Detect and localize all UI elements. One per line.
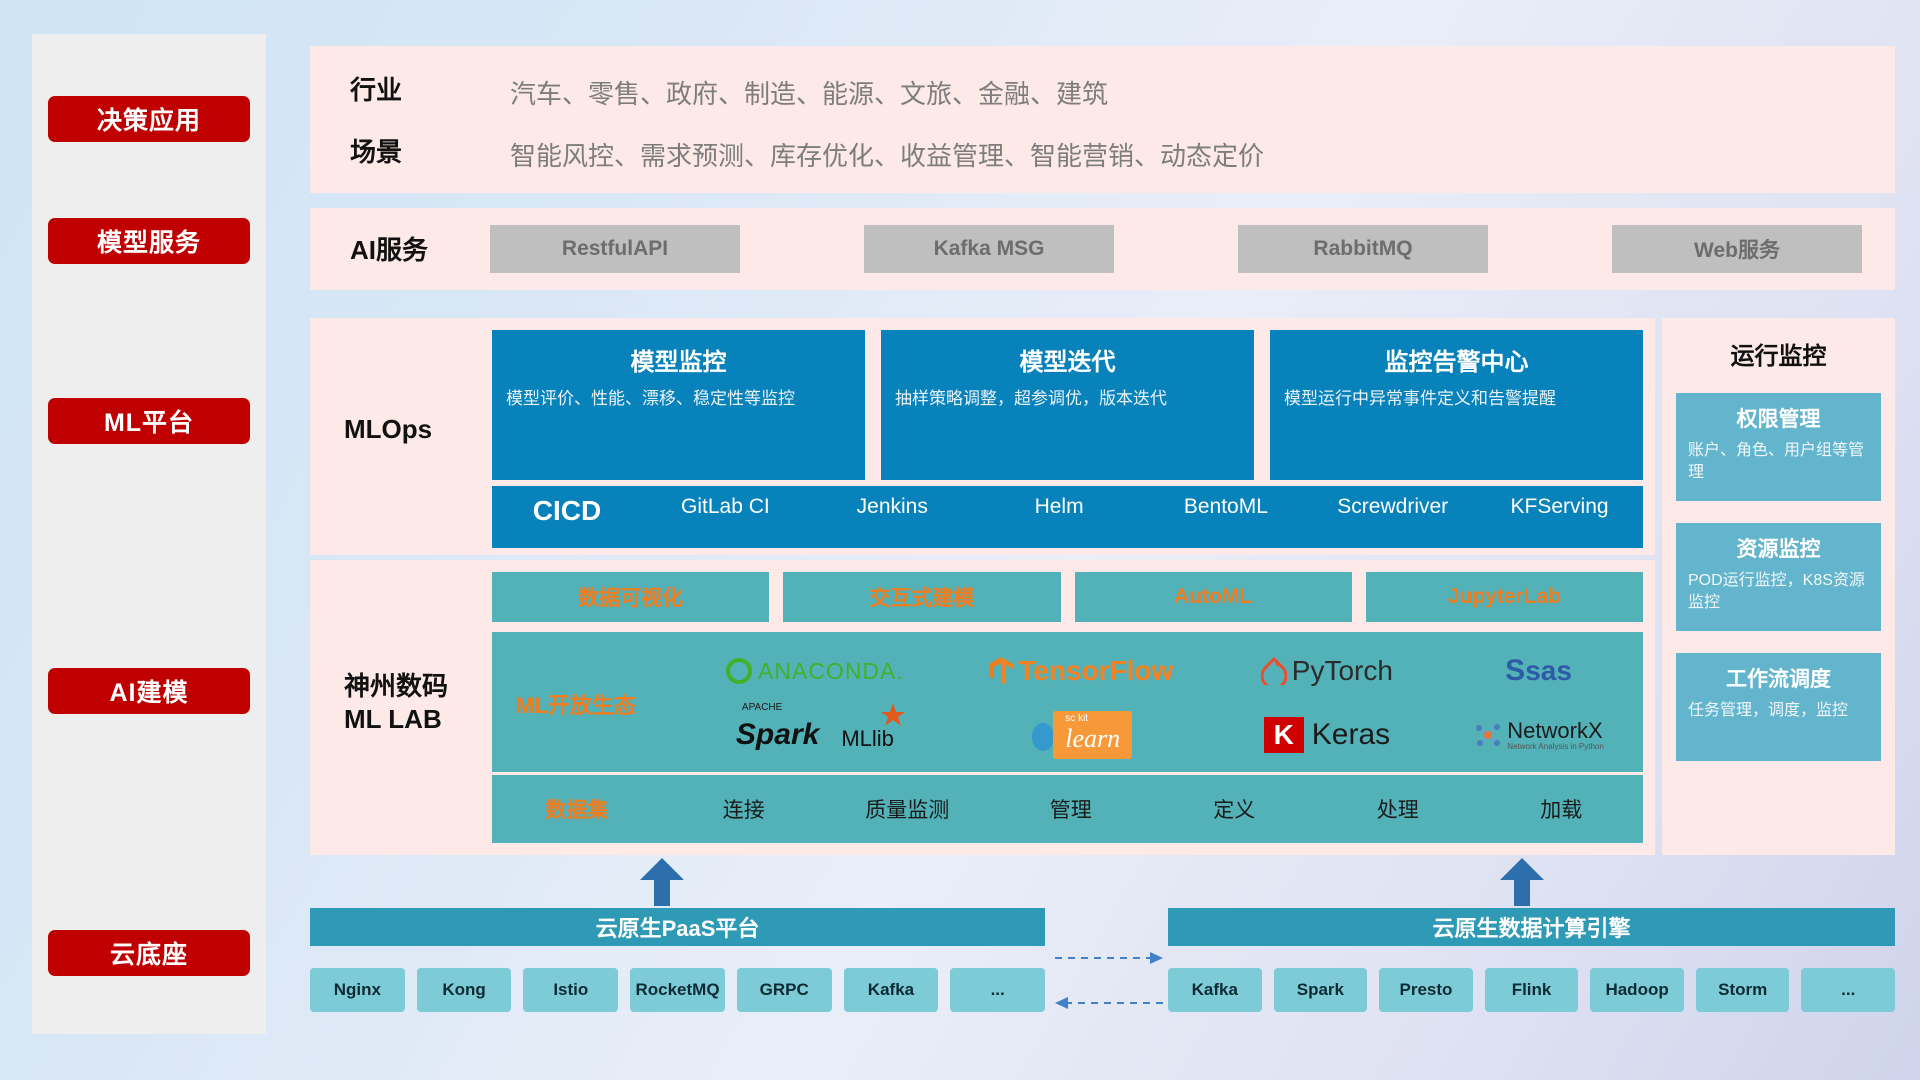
architecture-diagram: 决策应用 模型服务 ML平台 AI建模 云底座 行业 汽车、零售、政府、制造、能… — [0, 0, 1920, 1080]
cicd-label: CICD — [492, 495, 642, 527]
engine-title-bar: 云原生数据计算引擎 — [1168, 908, 1895, 946]
compute-engine-group: 云原生数据计算引擎 Kafka Spark Presto Flink Hadoo… — [1168, 908, 1895, 1012]
decision-application-band: 行业 汽车、零售、政府、制造、能源、文旅、金融、建筑 场景 智能风控、需求预测、… — [310, 46, 1895, 193]
rail-label: 云底座 — [110, 935, 188, 971]
left-rail: 决策应用 模型服务 ML平台 AI建模 云底座 — [32, 34, 266, 1034]
paas-pill-istio[interactable]: Istio — [523, 968, 618, 1012]
ml-lab-band: 神州数码 ML LAB 数据可视化 交互式建模 AutoML JupyterLa… — [310, 560, 1655, 855]
spark-mllib-logo: APACHE Spark MLlib — [682, 718, 948, 752]
tool-automl[interactable]: AutoML — [1075, 572, 1352, 622]
service-chip-restfulapi[interactable]: RestfulAPI — [490, 225, 740, 273]
ai-service-band: AI服务 RestfulAPI Kafka MSG RabbitMQ Web服务 — [310, 208, 1895, 290]
rail-label: 模型服务 — [97, 223, 201, 259]
dataset-item-process[interactable]: 处理 — [1316, 794, 1480, 824]
mlops-band: MLOps 模型监控 模型评价、性能、漂移、稳定性等监控 模型迭代 抽样策略调整… — [310, 318, 1655, 555]
chip-label: RabbitMQ — [1313, 237, 1412, 261]
chip-label: RestfulAPI — [562, 237, 668, 261]
runtime-monitoring-panel: 运行监控 权限管理 账户、角色、用户组等管理 资源监控 POD运行监控，K8S资… — [1662, 318, 1895, 855]
logo-text: PyTorch — [1292, 655, 1393, 687]
scenario-values: 智能风控、需求预测、库存优化、收益管理、智能营销、动态定价 — [510, 136, 1264, 173]
sas-logo: S sas — [1440, 654, 1637, 688]
card-title: 模型迭代 — [895, 342, 1240, 377]
paas-pill-nginx[interactable]: Nginx — [310, 968, 405, 1012]
monitoring-title: 运行监控 — [1662, 336, 1895, 371]
industry-values: 汽车、零售、政府、制造、能源、文旅、金融、建筑 — [510, 74, 1108, 111]
logo-text: learn — [1065, 724, 1120, 753]
cicd-item-screwdriver[interactable]: Screwdriver — [1309, 495, 1476, 519]
cicd-item-kfserving[interactable]: KFServing — [1476, 495, 1643, 519]
engine-pill-presto[interactable]: Presto — [1379, 968, 1473, 1012]
rail-item-ai-modeling[interactable]: AI建模 — [48, 668, 250, 714]
card-desc: 抽样策略调整，超参调优，版本迭代 — [895, 387, 1240, 412]
tool-label: 数据可视化 — [578, 582, 683, 612]
dataset-item-quality-monitor[interactable]: 质量监测 — [826, 794, 990, 824]
rail-item-cloud-base[interactable]: 云底座 — [48, 930, 250, 976]
paas-pill-grpc[interactable]: GRPC — [737, 968, 832, 1012]
card-desc: 账户、角色、用户组等管理 — [1688, 440, 1869, 485]
engine-pill-storm[interactable]: Storm — [1696, 968, 1790, 1012]
engine-title: 云原生数据计算引擎 — [1432, 911, 1630, 943]
engine-pill-more[interactable]: ... — [1801, 968, 1895, 1012]
cicd-item-gitlab-ci[interactable]: GitLab CI — [642, 495, 809, 519]
anaconda-logo: ANACONDA. — [682, 658, 948, 685]
paas-engine-link — [1055, 948, 1165, 1018]
logo-text: sas — [1525, 655, 1572, 687]
service-chip-kafka-msg[interactable]: Kafka MSG — [864, 225, 1114, 273]
card-title: 资源监控 — [1688, 533, 1869, 563]
ecosystem-label: ML开放生态 — [516, 688, 636, 720]
mlops-label: MLOps — [344, 413, 432, 446]
paas-group: 云原生PaaS平台 Nginx Kong Istio RocketMQ GRPC… — [310, 908, 1045, 1012]
paas-pill-kong[interactable]: Kong — [417, 968, 512, 1012]
paas-pill-more[interactable]: ... — [950, 968, 1045, 1012]
dataset-item-define[interactable]: 定义 — [1153, 794, 1317, 824]
card-title: 模型监控 — [506, 342, 851, 377]
engine-pill-hadoop[interactable]: Hadoop — [1590, 968, 1684, 1012]
service-chip-rabbitmq[interactable]: RabbitMQ — [1238, 225, 1488, 273]
pytorch-icon — [1261, 657, 1287, 685]
scenario-label: 场景 — [350, 136, 460, 169]
anaconda-icon — [726, 658, 752, 684]
tool-jupyterlab[interactable]: JupyterLab — [1366, 572, 1643, 622]
mlops-card-alert-center[interactable]: 监控告警中心 模型运行中异常事件定义和告警提醒 — [1270, 330, 1643, 480]
engine-pill-flink[interactable]: Flink — [1485, 968, 1579, 1012]
service-chip-web-service[interactable]: Web服务 — [1612, 225, 1862, 273]
logo-subtext: Network Analysis in Python — [1507, 742, 1604, 751]
tool-interactive-modeling[interactable]: 交互式建模 — [783, 572, 1060, 622]
mlops-card-model-iteration[interactable]: 模型迭代 抽样策略调整，超参调优，版本迭代 — [881, 330, 1254, 480]
rail-label: AI建模 — [109, 673, 188, 709]
card-title: 权限管理 — [1688, 403, 1869, 433]
cicd-item-helm[interactable]: Helm — [976, 495, 1143, 519]
logo-text: NetworkX — [1507, 720, 1604, 742]
sas-mark: S — [1505, 654, 1525, 688]
rail-label: 决策应用 — [97, 101, 201, 137]
tool-data-visualization[interactable]: 数据可视化 — [492, 572, 769, 622]
tool-label: JupyterLab — [1448, 585, 1561, 609]
dataset-item-load[interactable]: 加载 — [1480, 794, 1644, 824]
card-desc: 模型评价、性能、漂移、稳定性等监控 — [506, 387, 851, 412]
paas-title: 云原生PaaS平台 — [596, 911, 760, 943]
paas-pill-kafka[interactable]: Kafka — [844, 968, 939, 1012]
networkx-logo: NetworkX Network Analysis in Python — [1440, 720, 1637, 751]
arrow-up-icon — [640, 858, 684, 906]
monitoring-card-resources[interactable]: 资源监控 POD运行监控，K8S资源监控 — [1676, 523, 1881, 631]
monitoring-card-permissions[interactable]: 权限管理 账户、角色、用户组等管理 — [1676, 393, 1881, 501]
chip-label: Kafka MSG — [934, 237, 1045, 261]
dataset-item-connect[interactable]: 连接 — [662, 794, 826, 824]
ml-lab-label: 神州数码 ML LAB — [344, 670, 489, 735]
cicd-bar: CICD GitLab CI Jenkins Helm BentoML Scre… — [492, 486, 1643, 548]
cicd-item-bentoml[interactable]: BentoML — [1142, 495, 1309, 519]
dataset-label: 数据集 — [492, 794, 662, 824]
cicd-item-jenkins[interactable]: Jenkins — [809, 495, 976, 519]
tensorflow-icon — [988, 656, 1014, 686]
engine-pill-spark[interactable]: Spark — [1274, 968, 1368, 1012]
keras-mark: K — [1264, 717, 1304, 753]
card-desc: 任务管理，调度，监控 — [1688, 700, 1869, 722]
logo-text: TensorFlow — [1018, 655, 1173, 687]
logo-text: ANACONDA. — [758, 658, 904, 685]
apache-tag: APACHE — [742, 702, 782, 713]
engine-up-arrow — [1500, 858, 1544, 911]
paas-up-arrow — [640, 858, 684, 911]
logo-text: Keras — [1312, 718, 1390, 752]
mllib-text: MLlib — [841, 726, 894, 752]
industry-label: 行业 — [350, 74, 460, 107]
card-title: 监控告警中心 — [1284, 342, 1629, 377]
arrow-up-icon — [1500, 858, 1544, 906]
dataset-panel: 数据集 连接 质量监测 管理 定义 处理 加载 — [492, 775, 1643, 843]
rail-item-ml-platform[interactable]: ML平台 — [48, 398, 250, 444]
ai-service-label: AI服务 — [350, 234, 428, 267]
tool-label: AutoML — [1174, 585, 1252, 609]
scikit-learn-logo: sc kit learn — [948, 711, 1214, 759]
networkx-graph-icon — [1473, 720, 1503, 750]
dataset-item-manage[interactable]: 管理 — [989, 794, 1153, 824]
engine-pill-kafka[interactable]: Kafka — [1168, 968, 1262, 1012]
rail-label: ML平台 — [104, 403, 194, 439]
card-title: 工作流调度 — [1688, 663, 1869, 693]
ml-ecosystem-panel: ML开放生态 ANACONDA. TensorFlow — [492, 632, 1643, 772]
chip-label: Web服务 — [1694, 234, 1780, 264]
rail-item-decision[interactable]: 决策应用 — [48, 96, 250, 142]
card-desc: 模型运行中异常事件定义和告警提醒 — [1284, 387, 1629, 412]
tensorflow-logo: TensorFlow — [948, 655, 1214, 687]
keras-logo: K Keras — [1214, 717, 1440, 753]
card-desc: POD运行监控，K8S资源监控 — [1688, 570, 1869, 615]
logo-text: Spark — [736, 718, 819, 752]
scikit-tag: sc kit — [1065, 714, 1120, 724]
paas-pill-rocketmq[interactable]: RocketMQ — [630, 968, 725, 1012]
rail-item-model-service[interactable]: 模型服务 — [48, 218, 250, 264]
spark-star-icon — [880, 702, 906, 728]
monitoring-card-workflow[interactable]: 工作流调度 任务管理，调度，监控 — [1676, 653, 1881, 761]
mlops-card-model-monitor[interactable]: 模型监控 模型评价、性能、漂移、稳定性等监控 — [492, 330, 865, 480]
paas-title-bar: 云原生PaaS平台 — [310, 908, 1045, 946]
pytorch-logo: PyTorch — [1214, 655, 1440, 687]
tool-label: 交互式建模 — [869, 582, 974, 612]
